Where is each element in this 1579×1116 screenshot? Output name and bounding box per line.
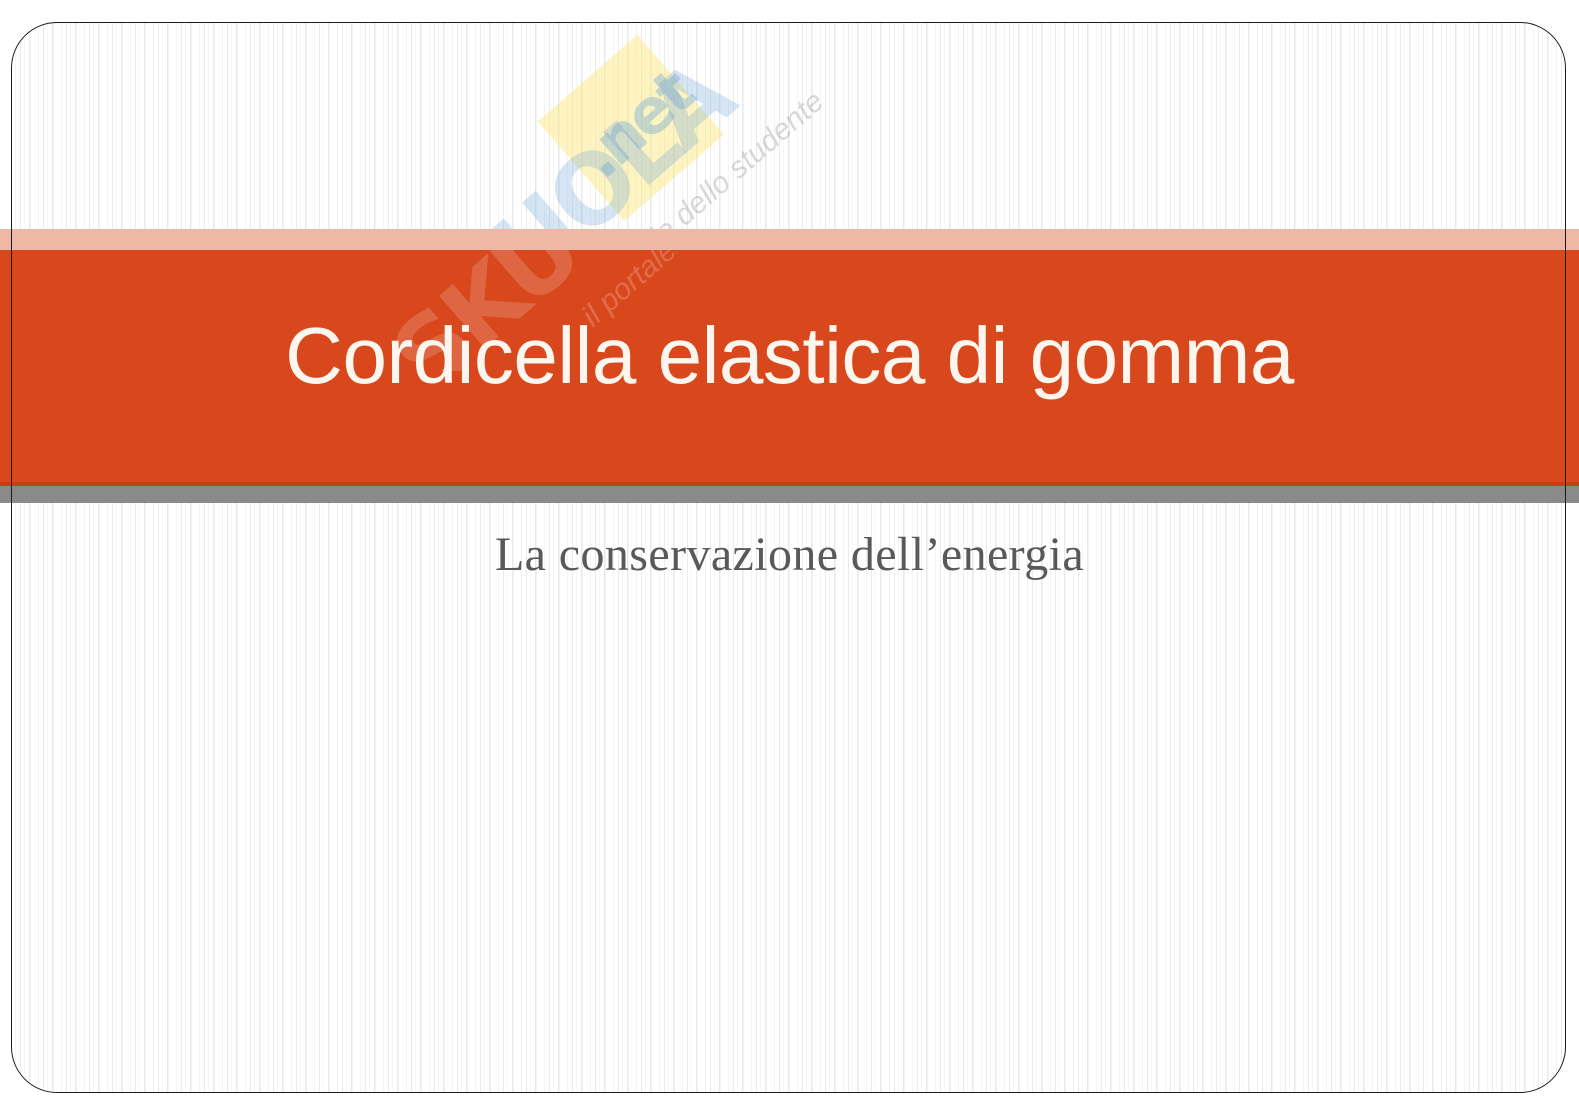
presentation-slide: SKUOLA .net il portale dello studente SK… [0, 0, 1579, 1116]
title-band-accent-top [0, 229, 1579, 250]
slide-title: Cordicella elastica di gomma [0, 316, 1579, 396]
title-band-accent-bottom [0, 486, 1579, 503]
slide-body-area [60, 620, 1519, 1060]
slide-subtitle: La conservazione dell’energia [0, 527, 1579, 582]
